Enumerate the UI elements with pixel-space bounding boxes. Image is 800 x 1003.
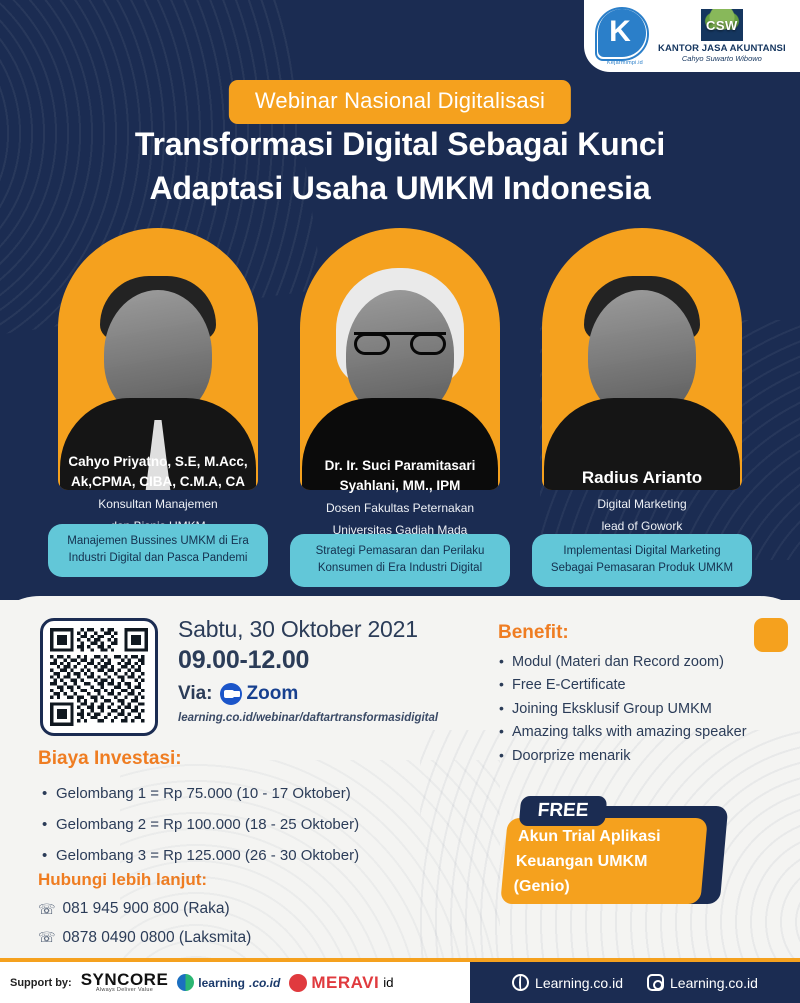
pricing-list: Gelombang 1 = Rp 75.000 (10 - 17 Oktober… bbox=[38, 778, 478, 872]
free-badge: FREE bbox=[519, 796, 608, 826]
csw-logo-block: CSW KANTOR JASA AKUNTANSI Cahyo Suwarto … bbox=[658, 9, 786, 63]
meravi-icon bbox=[289, 974, 307, 992]
video-camera-icon bbox=[220, 683, 242, 705]
free-offer-line2: Keuangan UMKM bbox=[516, 850, 692, 875]
meravi-name: MERAVI bbox=[311, 973, 379, 993]
glasses-icon bbox=[354, 332, 446, 354]
kejarmimpi-letter: K bbox=[594, 7, 646, 57]
benefit-section: Benefit: Modul (Materi dan Record zoom) … bbox=[498, 622, 788, 768]
speaker-photo-arch bbox=[542, 228, 742, 490]
phone-icon: ☏ bbox=[38, 901, 56, 918]
speakers-row: Cahyo Priyatno, S.E, M.Acc, Ak,CPMA, CIB… bbox=[44, 228, 756, 598]
globe-icon bbox=[512, 974, 529, 991]
learning-name: learning bbox=[198, 976, 245, 990]
logo-strip: K Kejarmimpi.id CSW KANTOR JASA AKUNTANS… bbox=[584, 0, 800, 72]
speaker-role-line1: Konsultan Manajemen bbox=[62, 496, 254, 513]
learning-suffix: .co.id bbox=[249, 976, 280, 990]
contact-row[interactable]: ☏ 0878 0490 0800 (Laksmita) bbox=[38, 929, 398, 948]
speaker-name-line1: Radius Arianto bbox=[546, 466, 738, 491]
speaker-topic: Implementasi Digital Marketing Sebagai P… bbox=[532, 534, 752, 587]
speaker-name-line1: Dr. Ir. Suci Paramitasari bbox=[304, 456, 496, 476]
event-date: Sabtu, 30 Oktober 2021 bbox=[178, 616, 438, 643]
speaker-card: Dr. Ir. Suci Paramitasari Syahlani, MM.,… bbox=[286, 228, 514, 598]
speaker-photo bbox=[300, 228, 500, 490]
pricing-section: Biaya Investasi: Gelombang 1 = Rp 75.000… bbox=[38, 748, 478, 872]
speaker-name-line2: Syahlani, MM., IPM bbox=[304, 476, 496, 496]
speaker-role-line1: Dosen Fakultas Peternakan bbox=[304, 500, 496, 517]
speaker-info: Dr. Ir. Suci Paramitasari Syahlani, MM.,… bbox=[300, 456, 500, 539]
list-item: Modul (Materi dan Record zoom) bbox=[498, 651, 788, 674]
speaker-photo-arch bbox=[58, 228, 258, 490]
contact-phone: 081 945 900 800 (Raka) bbox=[63, 900, 230, 919]
speaker-topic: Manajemen Bussines UMKM di Era Industri … bbox=[48, 524, 268, 577]
webinar-poster: K Kejarmimpi.id CSW KANTOR JASA AKUNTANS… bbox=[0, 0, 800, 1003]
speaker-role-line1: Digital Marketing bbox=[546, 496, 738, 513]
benefit-heading: Benefit: bbox=[498, 622, 788, 644]
learning-logo: learning .co.id bbox=[177, 974, 280, 991]
benefit-list: Modul (Materi dan Record zoom) Free E-Ce… bbox=[498, 651, 788, 768]
csw-tree-icon: CSW bbox=[701, 9, 743, 41]
title-line-1: Transformasi Digital Sebagai Kunci bbox=[0, 122, 800, 166]
website-link[interactable]: Learning.co.id bbox=[512, 974, 623, 991]
contact-phone: 0878 0490 0800 (Laksmita) bbox=[63, 929, 252, 948]
instagram-handle: Learning.co.id bbox=[670, 975, 758, 991]
event-schedule: Sabtu, 30 Oktober 2021 09.00-12.00 Via: … bbox=[178, 616, 438, 724]
contact-row[interactable]: ☏ 081 945 900 800 (Raka) bbox=[38, 900, 398, 919]
instagram-icon bbox=[647, 974, 664, 991]
speaker-card: Cahyo Priyatno, S.E, M.Acc, Ak,CPMA, CIB… bbox=[44, 228, 272, 598]
speaker-photo bbox=[58, 228, 258, 490]
syncore-logo: SYNCORE Always Deliver Value bbox=[81, 971, 169, 994]
platform-name: Zoom bbox=[247, 683, 299, 705]
list-item: Doorprize menarik bbox=[498, 745, 788, 768]
csw-mark-text: CSW bbox=[706, 18, 738, 33]
contact-section: Hubungi lebih lanjut: ☏ 081 945 900 800 … bbox=[38, 870, 398, 947]
free-offer-line1: Akun Trial Aplikasi bbox=[518, 825, 694, 850]
qr-code-icon bbox=[50, 628, 148, 726]
list-item: Gelombang 2 = Rp 100.000 (18 - 25 Oktobe… bbox=[38, 809, 478, 840]
event-platform-row: Via: Zoom bbox=[178, 683, 438, 705]
registration-url[interactable]: learning.co.id/webinar/daftartransformas… bbox=[178, 712, 438, 724]
via-label: Via: bbox=[178, 683, 213, 705]
kejarmimpi-tagline: Kejarmimpi.id bbox=[602, 60, 648, 66]
speaker-photo-arch bbox=[300, 228, 500, 490]
csw-line2: Cahyo Suwarto Wibowo bbox=[682, 54, 762, 63]
details-section: Sabtu, 30 Oktober 2021 09.00-12.00 Via: … bbox=[0, 600, 800, 960]
speaker-info: Cahyo Priyatno, S.E, M.Acc, Ak,CPMA, CIB… bbox=[58, 452, 258, 535]
pricing-heading: Biaya Investasi: bbox=[38, 748, 478, 770]
decorative-square bbox=[754, 618, 788, 652]
meravi-logo: MERAVI id bbox=[289, 973, 393, 993]
list-item: Gelombang 1 = Rp 75.000 (10 - 17 Oktober… bbox=[38, 778, 478, 809]
speaker-card: Radius Arianto Digital Marketing lead of… bbox=[528, 228, 756, 598]
list-item: Gelombang 3 = Rp 125.000 (26 - 30 Oktobe… bbox=[38, 840, 478, 871]
instagram-link[interactable]: Learning.co.id bbox=[647, 974, 758, 991]
free-offer-line3: (Genio) bbox=[514, 875, 690, 900]
list-item: Amazing talks with amazing speaker bbox=[498, 721, 788, 744]
website-handle: Learning.co.id bbox=[535, 975, 623, 991]
speaker-info: Radius Arianto Digital Marketing lead of… bbox=[542, 466, 742, 535]
speaker-photo bbox=[542, 228, 742, 490]
zoom-logo: Zoom bbox=[220, 683, 299, 705]
free-offer-card: FREE Akun Trial Aplikasi Keuangan UMKM (… bbox=[520, 796, 730, 904]
support-label: Support by: bbox=[10, 977, 72, 989]
title-line-2: Adaptasi Usaha UMKM Indonesia bbox=[0, 166, 800, 210]
sponsors-bar: Support by: SYNCORE Always Deliver Value… bbox=[0, 962, 470, 1003]
speaker-topic: Strategi Pemasaran dan Perilaku Konsumen… bbox=[290, 534, 510, 587]
page-title: Transformasi Digital Sebagai Kunci Adapt… bbox=[0, 122, 800, 210]
speaker-name-line1: Cahyo Priyatno, S.E, M.Acc, bbox=[62, 452, 254, 472]
learning-icon bbox=[177, 974, 194, 991]
phone-icon: ☏ bbox=[38, 929, 56, 946]
csw-line1: KANTOR JASA AKUNTANSI bbox=[658, 43, 786, 54]
kejarmimpi-logo-icon: K Kejarmimpi.id bbox=[594, 7, 652, 65]
social-bar: Learning.co.id Learning.co.id bbox=[470, 962, 800, 1003]
speaker-name-line2: Ak,CPMA, CIBA, C.M.A, CA bbox=[62, 472, 254, 492]
event-type-badge: Webinar Nasional Digitalisasi bbox=[229, 80, 571, 124]
free-offer-body: Akun Trial Aplikasi Keuangan UMKM (Genio… bbox=[500, 818, 708, 904]
event-time: 09.00-12.00 bbox=[178, 646, 438, 675]
qr-code-card[interactable] bbox=[40, 618, 158, 736]
list-item: Free E-Certificate bbox=[498, 674, 788, 697]
contact-heading: Hubungi lebih lanjut: bbox=[38, 870, 398, 890]
speaker-role-line2: lead of Gowork bbox=[546, 518, 738, 535]
meravi-suffix: id bbox=[383, 975, 393, 990]
list-item: Joining Eksklusif Group UMKM bbox=[498, 698, 788, 721]
